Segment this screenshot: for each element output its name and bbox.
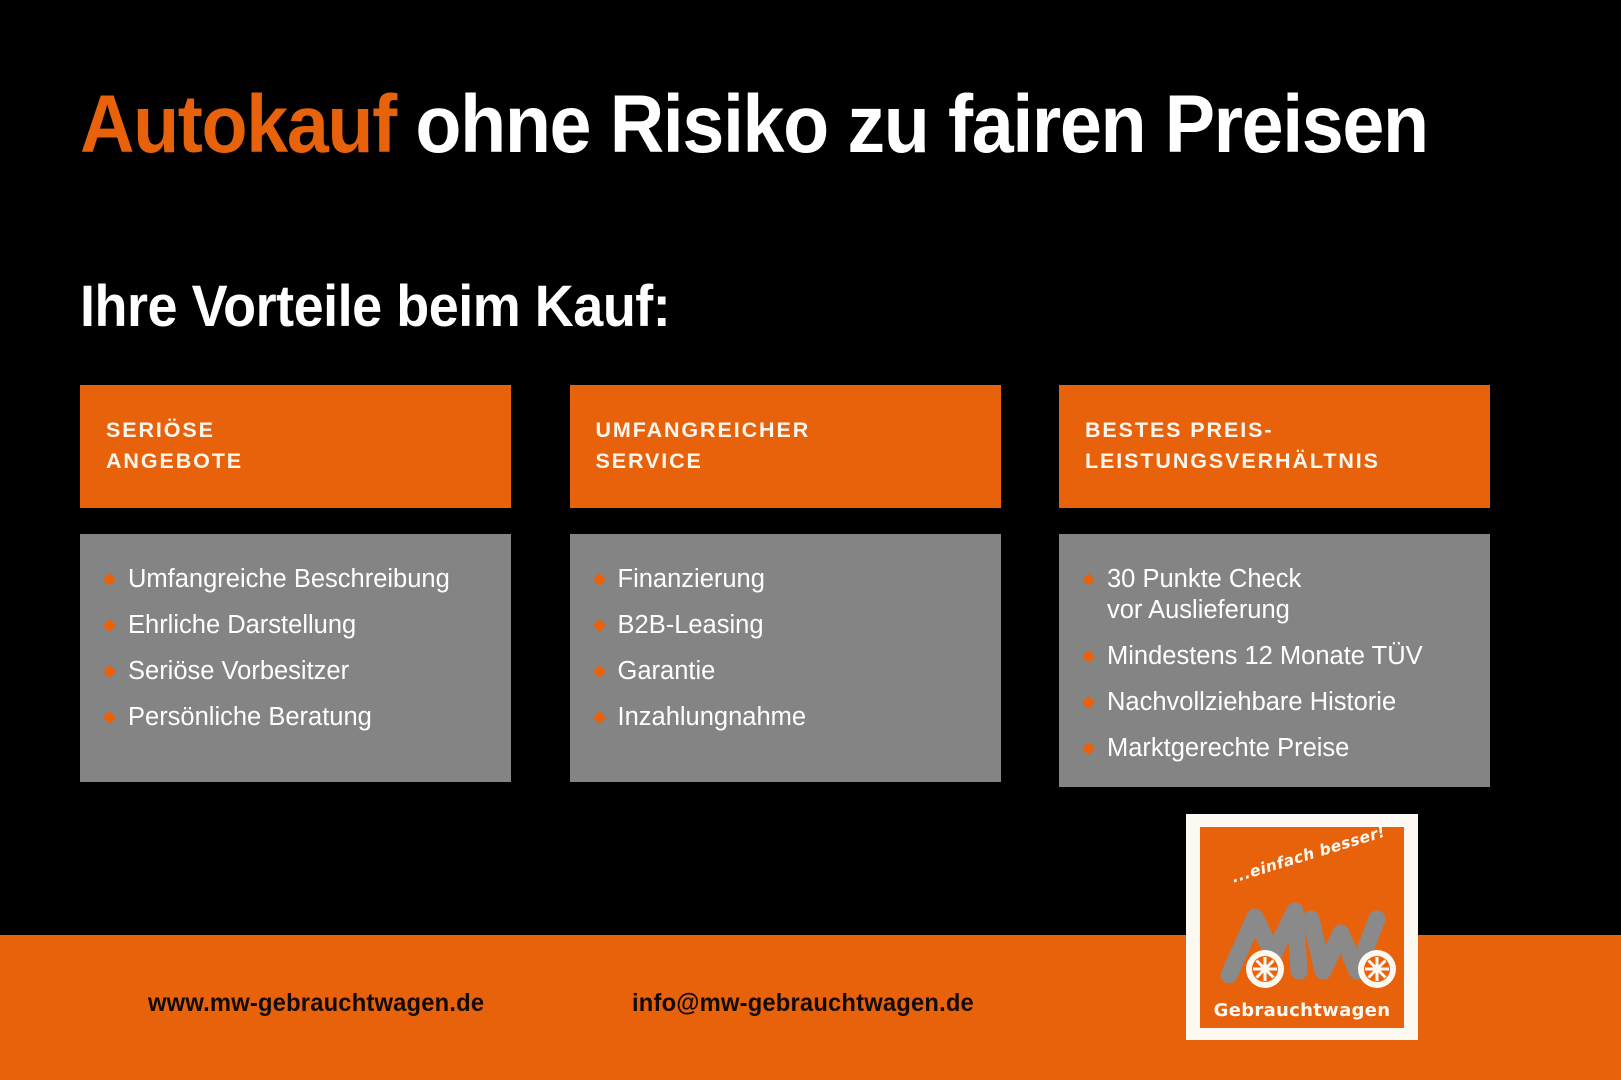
logo-tagline: ...einfach besser! <box>1229 827 1387 887</box>
benefit-column-body: 30 Punkte Check vor Auslieferung Mindest… <box>1059 534 1490 787</box>
logo[interactable]: ...einfach besser! <box>1186 814 1418 1040</box>
diamond-bullet-icon <box>103 619 116 632</box>
benefit-column-header: UMFANGREICHER SERVICE <box>570 385 1001 508</box>
diamond-bullet-icon <box>1082 743 1095 756</box>
benefit-column-header-label: UMFANGREICHER SERVICE <box>596 415 975 476</box>
list-item: Inzahlungnahme <box>592 702 979 733</box>
email-link[interactable]: info@mw-gebrauchtwagen.de <box>632 989 974 1018</box>
list-item: Mindestens 12 Monate TÜV <box>1081 641 1468 672</box>
benefit-column-body: Umfangreiche Beschreibung Ehrliche Darst… <box>80 534 511 782</box>
list-item-label: B2B-Leasing <box>618 611 764 639</box>
list-item-label: Umfangreiche Beschreibung <box>128 565 450 593</box>
diamond-bullet-icon <box>1082 650 1095 663</box>
benefit-column-header-label: SERIÖSE ANGEBOTE <box>106 415 485 476</box>
list-item: Garantie <box>592 656 979 687</box>
benefit-column-header: SERIÖSE ANGEBOTE <box>80 385 511 508</box>
benefit-column-umfangreicher-service: UMFANGREICHER SERVICE Finanzierung B2B-L… <box>570 385 1001 787</box>
diamond-bullet-icon <box>593 711 606 724</box>
list-item-label: Persönliche Beratung <box>128 703 372 731</box>
logo-inner: ...einfach besser! <box>1200 827 1404 1028</box>
logo-monogram-mw-icon <box>1200 893 1404 991</box>
diamond-bullet-icon <box>1082 696 1095 709</box>
benefit-list: Finanzierung B2B-Leasing Garantie Inzahl… <box>592 564 979 733</box>
benefit-list: Umfangreiche Beschreibung Ehrliche Darst… <box>102 564 489 733</box>
poster-canvas: Autokauf ohne Risiko zu fairen Preisen I… <box>0 0 1621 1080</box>
website-link[interactable]: www.mw-gebrauchtwagen.de <box>148 989 484 1018</box>
list-item-label: Seriöse Vorbesitzer <box>128 657 349 685</box>
page-title-accent: Autokauf <box>80 79 396 170</box>
list-item-label: Marktgerechte Preise <box>1107 734 1349 762</box>
list-item-label: Finanzierung <box>618 565 765 593</box>
list-item-label: Nachvollziehbare Historie <box>1107 688 1396 716</box>
diamond-bullet-icon <box>593 573 606 586</box>
diamond-bullet-icon <box>103 711 116 724</box>
diamond-bullet-icon <box>1082 573 1095 586</box>
page-title-rest: ohne Risiko zu fairen Preisen <box>396 79 1428 170</box>
list-item: 30 Punkte Check vor Auslieferung <box>1081 564 1468 626</box>
list-item-label: 30 Punkte Check vor Auslieferung <box>1107 565 1301 624</box>
logo-name-label: Gebrauchtwagen <box>1200 1000 1404 1021</box>
benefit-list: 30 Punkte Check vor Auslieferung Mindest… <box>1081 564 1468 765</box>
list-item-label: Ehrliche Darstellung <box>128 611 356 639</box>
diamond-bullet-icon <box>103 573 116 586</box>
list-item: Ehrliche Darstellung <box>102 610 489 641</box>
page-title: Autokauf ohne Risiko zu fairen Preisen <box>80 84 1428 166</box>
benefits-columns: SERIÖSE ANGEBOTE Umfangreiche Beschreibu… <box>80 385 1490 787</box>
list-item: Nachvollziehbare Historie <box>1081 687 1468 718</box>
benefit-column-header: BESTES PREIS- LEISTUNGSVERHÄLTNIS <box>1059 385 1490 508</box>
list-item: Persönliche Beratung <box>102 702 489 733</box>
list-item: B2B-Leasing <box>592 610 979 641</box>
list-item-label: Inzahlungnahme <box>618 703 807 731</box>
benefit-column-bestes-preis-leistungsverhaeltnis: BESTES PREIS- LEISTUNGSVERHÄLTNIS 30 Pun… <box>1059 385 1490 787</box>
list-item: Finanzierung <box>592 564 979 595</box>
list-item: Marktgerechte Preise <box>1081 733 1468 764</box>
list-item: Umfangreiche Beschreibung <box>102 564 489 595</box>
list-item: Seriöse Vorbesitzer <box>102 656 489 687</box>
list-item-label: Garantie <box>618 657 716 685</box>
benefit-column-body: Finanzierung B2B-Leasing Garantie Inzahl… <box>570 534 1001 782</box>
benefit-column-serioese-angebote: SERIÖSE ANGEBOTE Umfangreiche Beschreibu… <box>80 385 511 787</box>
section-subtitle: Ihre Vorteile beim Kauf: <box>80 278 670 336</box>
benefit-column-header-label: BESTES PREIS- LEISTUNGSVERHÄLTNIS <box>1085 415 1464 476</box>
list-item-label: Mindestens 12 Monate TÜV <box>1107 642 1423 670</box>
diamond-bullet-icon <box>593 619 606 632</box>
diamond-bullet-icon <box>103 665 116 678</box>
diamond-bullet-icon <box>593 665 606 678</box>
